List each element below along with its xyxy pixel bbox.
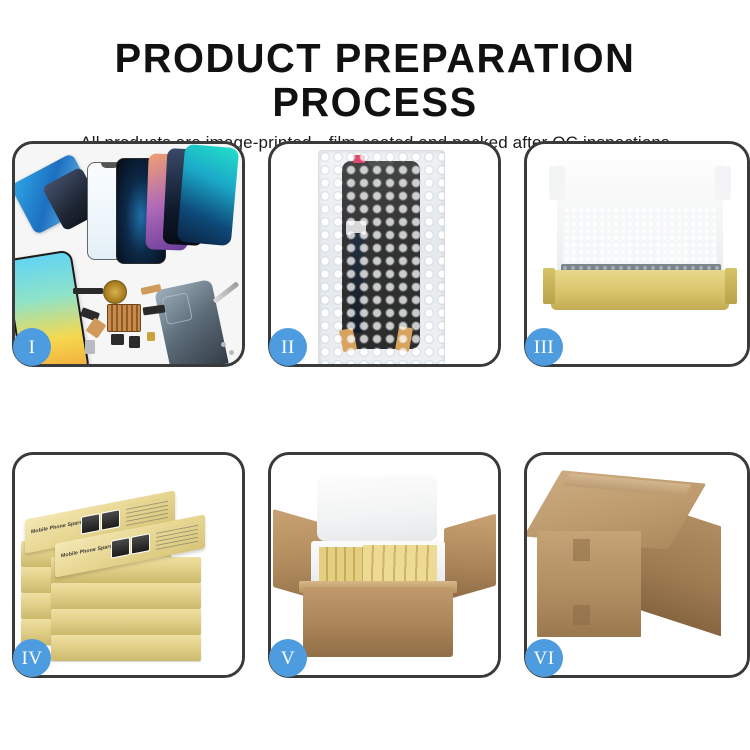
ribbon-part-icon — [86, 317, 107, 338]
box-stack: Mobile Phone Spare Parts Mobile Phone Sp… — [21, 483, 235, 663]
box-phone-graphic — [81, 513, 100, 535]
header: PRODUCT PREPARATION PROCESS All products… — [0, 0, 750, 153]
screw-part-icon — [147, 332, 155, 341]
product-preparation-infographic: PRODUCT PREPARATION PROCESS All products… — [0, 0, 750, 750]
stacked-box — [51, 635, 201, 661]
teal-phone-icon — [177, 144, 239, 246]
foam-sheet-icon — [563, 206, 717, 272]
step-image-2 — [271, 144, 498, 364]
speaker-part-icon — [129, 336, 140, 348]
carton-tape-tab-icon — [573, 605, 590, 625]
step-image-3 — [527, 144, 747, 364]
step-badge-1: I — [13, 328, 51, 366]
step-badge-2: II — [269, 328, 307, 366]
stacked-box — [51, 583, 201, 609]
foam-lid-open-icon — [317, 475, 437, 541]
page-title: PRODUCT PREPARATION PROCESS — [11, 0, 739, 124]
button-part-icon — [111, 334, 124, 345]
stacked-box — [51, 609, 201, 635]
screw-dot-icon — [229, 350, 234, 355]
small-part-icon — [73, 288, 103, 294]
step-panel-2: II — [268, 141, 501, 367]
step-panel-3: III — [524, 141, 750, 367]
step-image-4: Mobile Phone Spare Parts Mobile Phone Sp… — [15, 455, 242, 675]
box-spec-lines — [156, 522, 198, 550]
box-phone-graphic — [111, 537, 130, 559]
step-badge-4: IV — [13, 639, 51, 677]
step-image-1 — [15, 144, 242, 364]
carton-tape-tab-icon — [573, 539, 590, 561]
step-panel-6: VI — [524, 452, 750, 678]
step-panel-1: I — [12, 141, 245, 367]
chip-grid-icon — [107, 304, 141, 332]
steps-grid: I II — [12, 141, 748, 678]
yellow-boxes-row-icon — [363, 545, 437, 583]
screw-dot-icon — [221, 342, 226, 347]
flex-cable-icon — [350, 233, 363, 333]
tweezers-icon — [213, 281, 240, 303]
step-badge-6: VI — [525, 639, 563, 677]
box-phone-graphic — [101, 509, 120, 531]
carton-body-icon — [303, 587, 453, 657]
step-badge-3: III — [525, 328, 563, 366]
tray-part-icon — [85, 340, 95, 354]
bubble-wrap-bag-icon — [318, 150, 445, 364]
step-image-6 — [527, 455, 747, 675]
box-phone-graphic — [131, 533, 150, 555]
pink-tab-icon — [353, 155, 365, 163]
yellow-box-tray-icon — [551, 270, 729, 310]
step-panel-5: V — [268, 452, 501, 678]
step-badge-5: V — [269, 639, 307, 677]
step-image-5 — [271, 455, 498, 675]
coil-part-icon — [103, 280, 127, 304]
phone-back-shell-icon — [154, 279, 230, 364]
step-panel-4: Mobile Phone Spare Parts Mobile Phone Sp… — [12, 452, 245, 678]
